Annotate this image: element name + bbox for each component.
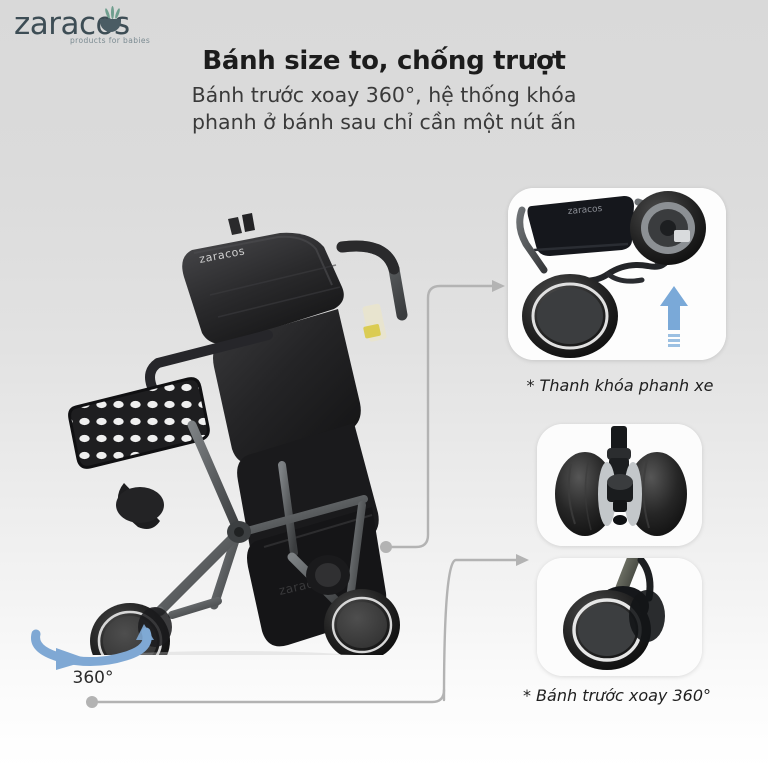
- wheel-upper: [630, 191, 706, 265]
- logo-sprout-icon: [111, 6, 114, 19]
- subtitle-line-1: Bánh trước xoay 360°, hệ thống khóa: [0, 82, 768, 109]
- wheel-left: [555, 452, 616, 536]
- connector-arrow-head: [516, 554, 529, 566]
- rotation-arrow-icon: [28, 620, 158, 672]
- inset-rear-wheel-brake: zaracos: [508, 188, 726, 360]
- page-title: Bánh size to, chống trượt: [0, 44, 768, 78]
- page-subtitle: Bánh trước xoay 360°, hệ thống khóa phan…: [0, 82, 768, 136]
- promo-banner: zaracos products for babies Bánh size to…: [0, 0, 768, 768]
- spin-360-badge: 360°: [28, 620, 158, 700]
- caption-front-wheel: * Bánh trước xoay 360°: [487, 686, 747, 705]
- wheel-right: [624, 452, 687, 536]
- spin-360-label: 360°: [28, 668, 158, 688]
- inset-front-wheel-closeup: [537, 558, 702, 676]
- wheel-lower: [522, 274, 618, 358]
- connector-arrow-head: [492, 280, 505, 292]
- inset-twin-front-wheels: [537, 424, 702, 546]
- caption-brake-lock: * Thanh khóa phanh xe: [490, 376, 750, 395]
- stroller-product-image: zaracos zaracos: [42, 175, 412, 655]
- header-block: Bánh size to, chống trượt Bánh trước xoa…: [0, 44, 768, 136]
- subtitle-line-2: phanh ở bánh sau chỉ cần một nút ấn: [0, 109, 768, 136]
